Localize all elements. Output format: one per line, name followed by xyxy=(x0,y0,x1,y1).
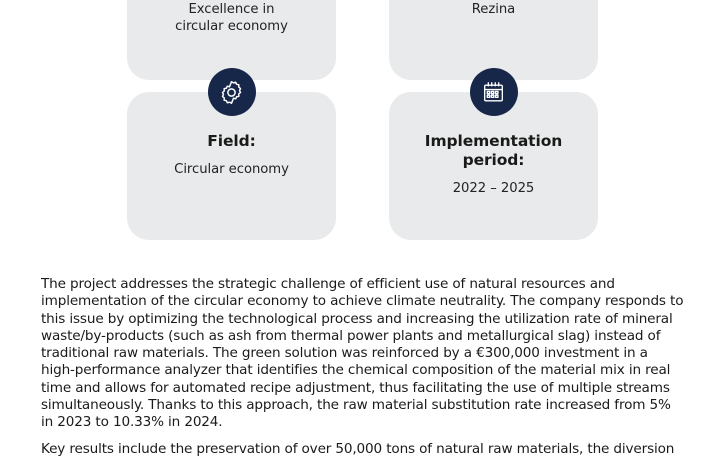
info-card-title: Implementation period: xyxy=(403,132,584,170)
info-card-field: Field: Circular economy xyxy=(127,92,336,240)
info-card-value: Circular economy xyxy=(174,162,289,179)
info-card-title: Field: xyxy=(207,132,255,151)
document-page: Green Award: Excellence incircular econo… xyxy=(0,0,725,460)
info-card-row-2: Field: Circular economy xyxy=(0,92,725,240)
info-card-value: Rezina xyxy=(472,2,515,19)
info-card-value: 2022 – 2025 xyxy=(453,181,535,198)
info-card-implementation-period: Implementation period: 2022 – 2025 xyxy=(389,92,598,240)
calendar-icon xyxy=(470,68,518,116)
info-card-value: Excellence incircular economy xyxy=(175,2,288,35)
gear-icon xyxy=(208,68,256,116)
project-description: The project addresses the strategic chal… xyxy=(41,276,685,460)
paragraph-key-results: Key results include the preservation of … xyxy=(41,441,685,460)
info-card-grid: Green Award: Excellence incircular econo… xyxy=(0,0,725,252)
paragraph-overview: The project addresses the strategic chal… xyxy=(41,276,685,432)
info-card-row-1: Green Award: Excellence incircular econo… xyxy=(0,0,725,80)
